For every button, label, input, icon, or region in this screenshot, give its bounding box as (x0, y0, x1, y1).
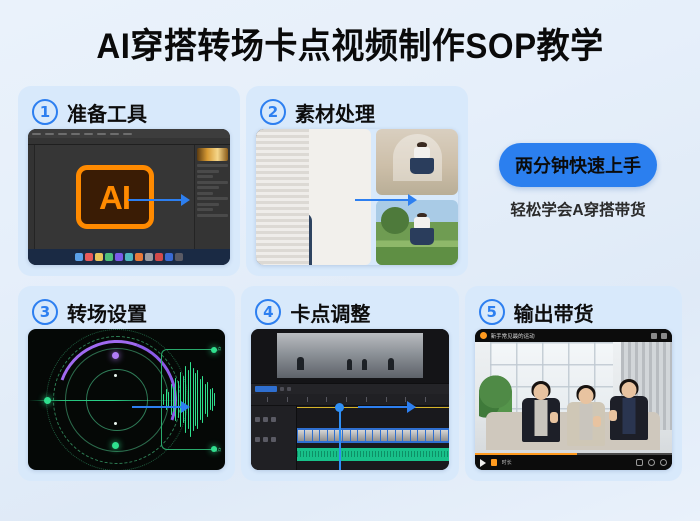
editor-active-tab[interactable] (255, 386, 277, 392)
preview-subject (388, 358, 394, 370)
step-card-4[interactable]: 4 卡点调整 (241, 286, 458, 481)
photo-tree (381, 207, 409, 233)
settings-icon[interactable] (636, 459, 643, 466)
panel-row (197, 164, 228, 167)
audio-node-in-label: 入点 (213, 346, 221, 352)
presenter-top (535, 400, 548, 436)
audio-waveform-strip (297, 451, 449, 457)
title-bar: AI穿搭转场卡点视频制作SOP教学 (0, 0, 700, 86)
track-headers[interactable] (251, 406, 296, 470)
timeline-ruler[interactable] (251, 394, 448, 406)
model-skirt (410, 158, 434, 174)
audio-node-out-label: 出点 (213, 447, 221, 453)
marker-line (297, 407, 449, 409)
presenter-center (563, 388, 609, 448)
macos-dock (28, 249, 230, 265)
step-5-header: 5 输出带货 (475, 295, 672, 329)
timeline-playhead[interactable] (339, 406, 341, 470)
player-video-stage[interactable] (475, 342, 672, 455)
next-icon[interactable] (491, 459, 497, 466)
highlight-subtitle: 轻松学会A穿搭带货 (510, 198, 645, 220)
dock-icon (75, 253, 83, 261)
fullscreen-icon[interactable] (660, 459, 667, 466)
photo-outfit-arch (376, 129, 458, 195)
page-title: AI穿搭转场卡点视频制作SOP教学 (96, 18, 603, 69)
step-2-media (256, 129, 458, 265)
dock-icon (115, 253, 123, 261)
presenter-right (605, 382, 653, 448)
presenter-head (579, 388, 594, 404)
highlight-panel: 两分钟快速上手 轻松学会A穿搭带货 (474, 86, 682, 276)
video-editor (251, 329, 448, 470)
editor-toolbar[interactable] (251, 383, 448, 394)
step-label-4: 卡点调整 (290, 298, 370, 327)
model-skirt (410, 228, 434, 244)
app-canvas: AI (35, 145, 194, 249)
model-figure (414, 142, 430, 176)
app-tools-panel (28, 145, 35, 249)
step-card-1[interactable]: 1 准备工具 AI (18, 86, 240, 276)
panel-row (197, 203, 219, 206)
step-1-header: 1 准备工具 (28, 95, 230, 129)
panel-row (197, 197, 228, 200)
presenter-head (534, 384, 549, 400)
panel-row (197, 175, 213, 178)
radar-scanline (28, 400, 182, 401)
play-icon[interactable] (480, 459, 486, 467)
panel-row (197, 192, 213, 195)
thumbs-up-icon (593, 416, 601, 427)
app-menu-bar (28, 129, 230, 138)
preview-subject (362, 359, 367, 371)
timeline-tracks[interactable] (251, 406, 448, 470)
highlight-badge: 两分钟快速上手 (499, 143, 657, 187)
step-4-header: 4 卡点调整 (251, 295, 448, 329)
panel-row (197, 214, 228, 217)
dock-icon (165, 253, 173, 261)
photo-gallery (256, 129, 458, 265)
step-1-media: AI (28, 129, 230, 265)
player-progress-bar[interactable] (475, 453, 672, 455)
panel-row (197, 208, 213, 211)
radar-marker (114, 374, 117, 377)
refresh-icon[interactable] (648, 459, 655, 466)
steps-row-top: 1 准备工具 AI (18, 86, 682, 276)
panel-row (197, 186, 219, 189)
steps-board: 1 准备工具 AI (0, 86, 700, 481)
step-2-header: 2 素材处理 (256, 95, 458, 129)
step-3-media: 入点 出点 (28, 329, 225, 470)
illustrator-logo-icon: AI (76, 165, 154, 229)
video-clip[interactable] (297, 428, 449, 443)
illustrator-window: AI (28, 129, 230, 265)
step-card-5[interactable]: 5 输出带货 新手常见最的运动 (465, 286, 682, 481)
player-progress-fill (475, 453, 578, 455)
photo-outfit-garden (376, 200, 458, 266)
radar-marker (114, 422, 117, 425)
editor-preview-monitor (251, 329, 448, 383)
steps-row-bottom: 3 转场设置 (18, 286, 682, 481)
step-5-media: 新手常见最的运动 (475, 329, 672, 470)
app-right-panels (194, 145, 230, 249)
photo-main-outfit (256, 129, 371, 265)
share-icon[interactable] (651, 333, 657, 339)
dock-icon (125, 253, 133, 261)
presenter-head (621, 382, 636, 398)
step-card-2[interactable]: 2 素材处理 (246, 86, 468, 276)
dock-icon (135, 253, 143, 261)
photo-backdrop (256, 129, 309, 265)
radar-node-bottom (112, 442, 119, 449)
track-lanes[interactable] (297, 406, 449, 470)
presenter-tie (622, 398, 635, 434)
track-header-audio[interactable] (251, 432, 295, 447)
transition-visualizer: 入点 出点 (28, 329, 225, 470)
clip-thumbnails (298, 430, 448, 441)
step-number-badge-5: 5 (479, 299, 505, 325)
dock-icon (175, 253, 183, 261)
video-player[interactable]: 新手常见最的运动 (475, 329, 672, 470)
step-number-badge-4: 4 (255, 299, 281, 325)
panel-row (197, 170, 219, 173)
app-body: AI (28, 145, 230, 249)
player-top-actions[interactable] (651, 333, 667, 339)
thumbs-up-icon (550, 412, 558, 423)
dock-icon (85, 253, 93, 261)
photo-side-column (376, 129, 458, 265)
preview-frame (277, 333, 423, 378)
presenter-left (518, 384, 564, 448)
player-title-bar: 新手常见最的运动 (475, 329, 672, 342)
step-number-badge-2: 2 (260, 99, 286, 125)
dock-icon (105, 253, 113, 261)
step-label-1: 准备工具 (67, 98, 147, 127)
more-icon[interactable] (661, 333, 667, 339)
audio-clip[interactable] (297, 448, 449, 461)
preview-subject (347, 359, 352, 370)
step-number-badge-1: 1 (32, 99, 58, 125)
step-card-3[interactable]: 3 转场设置 (18, 286, 235, 481)
thumbs-up-icon (609, 410, 617, 421)
video-title: 新手常见最的运动 (491, 332, 535, 340)
color-swatch (197, 148, 228, 161)
illustrator-logo-text: AI (99, 181, 130, 214)
dock-icon (95, 253, 103, 261)
step-number-badge-3: 3 (32, 299, 58, 325)
audio-waveform (163, 360, 215, 439)
app-options-bar (28, 138, 230, 145)
preview-subject (297, 357, 304, 371)
step-4-media (251, 329, 448, 470)
player-right-controls[interactable] (636, 459, 667, 466)
step-label-2: 素材处理 (295, 98, 375, 127)
player-controls[interactable]: 时长 (475, 455, 672, 470)
step-3-header: 3 转场设置 (28, 295, 225, 329)
radar-node-left (44, 397, 51, 404)
model-figure (414, 213, 430, 247)
presenter-top (580, 404, 593, 440)
track-header-video[interactable] (251, 412, 295, 427)
dock-icon (145, 253, 153, 261)
step-label-5: 输出带货 (514, 298, 594, 327)
player-time-label: 时长 (502, 459, 512, 466)
radar-node-top (112, 352, 119, 359)
panel-row (197, 181, 228, 184)
dock-icon (155, 253, 163, 261)
photo-lawn (376, 247, 458, 265)
step-label-3: 转场设置 (67, 298, 147, 327)
channel-avatar-icon[interactable] (480, 332, 487, 339)
